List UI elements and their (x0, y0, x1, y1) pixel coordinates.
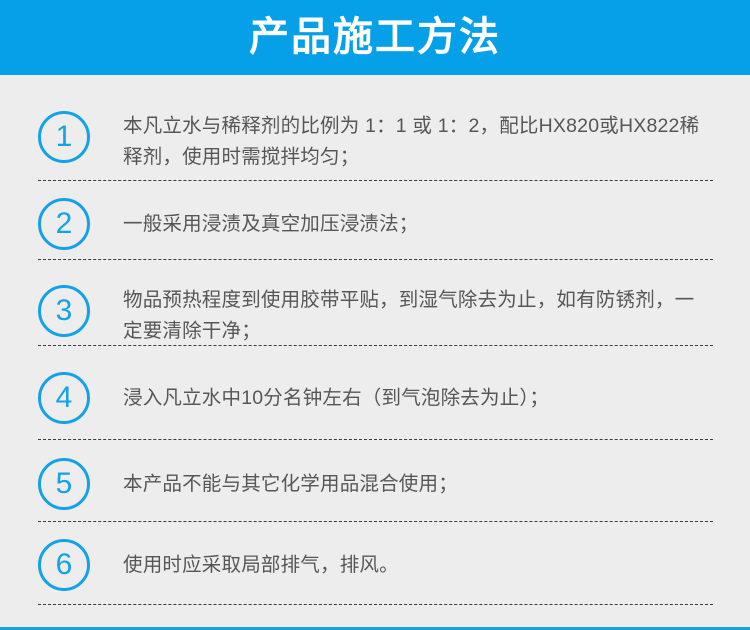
step-number-label: 2 (56, 209, 73, 239)
step-divider-6 (38, 604, 713, 605)
step-number-badge-6: 6 (38, 539, 90, 591)
step-text-4: 浸入凡立水中10分名钟左右（到气泡除去为止）； (123, 372, 713, 414)
step-number-label: 6 (56, 550, 73, 580)
step-divider-2 (38, 259, 713, 260)
instruction-step-1: 1 本凡立水与稀释剂的比例为 1：1 或 1：2，配比HX820或HX822稀释… (38, 111, 713, 173)
step-divider-5 (38, 521, 713, 522)
instruction-step-4: 4 浸入凡立水中10分名钟左右（到气泡除去为止）； (38, 372, 713, 424)
step-number-label: 4 (56, 383, 73, 413)
step-text-1: 本凡立水与稀释剂的比例为 1：1 或 1：2，配比HX820或HX822稀释剂，… (123, 111, 713, 173)
product-instruction-page: 产品施工方法 1 本凡立水与稀释剂的比例为 1：1 或 1：2，配比HX820或… (0, 0, 750, 630)
step-number-label: 5 (56, 469, 73, 499)
instruction-step-6: 6 使用时应采取局部排气，排风。 (38, 539, 713, 591)
step-text-2: 一般采用浸渍及真空加压浸渍法； (123, 198, 713, 240)
step-number-label: 1 (56, 122, 73, 152)
step-text-6: 使用时应采取局部排气，排风。 (123, 539, 713, 581)
step-text-3: 物品预热程度到使用胶带平贴，到湿气除去为止，如有防锈剂，一定要清除干净； (123, 285, 713, 347)
step-number-badge-2: 2 (38, 198, 90, 250)
step-text-5: 本产品不能与其它化学用品混合使用； (123, 458, 713, 500)
page-header-bar: 产品施工方法 (0, 0, 750, 75)
step-number-label: 3 (56, 296, 73, 326)
page-title: 产品施工方法 (249, 17, 501, 59)
instruction-step-3: 3 物品预热程度到使用胶带平贴，到湿气除去为止，如有防锈剂，一定要清除干净； (38, 285, 713, 347)
step-divider-1 (38, 180, 713, 181)
step-number-badge-3: 3 (38, 285, 90, 337)
step-divider-4 (38, 439, 713, 440)
step-number-badge-4: 4 (38, 372, 90, 424)
step-number-badge-1: 1 (38, 111, 90, 163)
instruction-step-5: 5 本产品不能与其它化学用品混合使用； (38, 458, 713, 510)
step-divider-3 (38, 345, 713, 346)
instruction-step-2: 2 一般采用浸渍及真空加压浸渍法； (38, 198, 713, 250)
instruction-step-list: 1 本凡立水与稀释剂的比例为 1：1 或 1：2，配比HX820或HX822稀释… (0, 75, 750, 627)
step-number-badge-5: 5 (38, 458, 90, 510)
